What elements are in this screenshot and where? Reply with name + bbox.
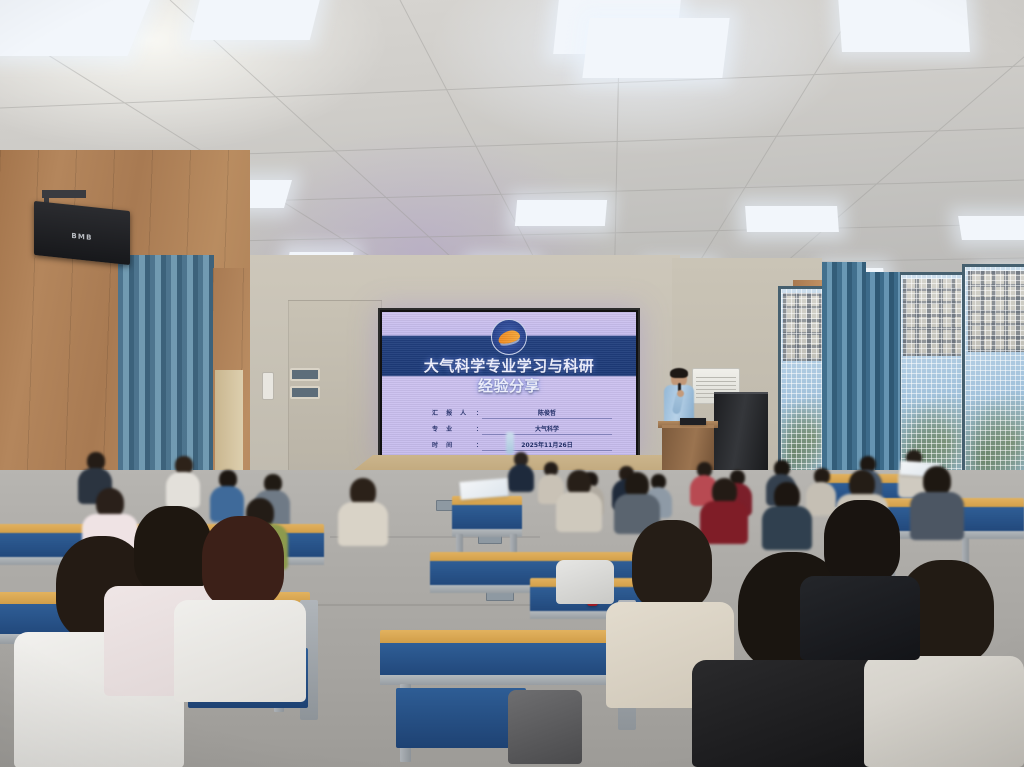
person-torso	[174, 600, 306, 702]
window-screen-mesh	[781, 289, 825, 479]
slide-meta-row: 专 业 ： 大气科学	[432, 424, 612, 435]
desk-row	[452, 496, 522, 540]
university-emblem-logo	[491, 319, 527, 355]
backpack	[556, 560, 614, 604]
desk-front-panel	[452, 505, 522, 531]
person-torso	[556, 492, 602, 532]
ceiling-light-panel	[190, 0, 322, 40]
window-screen-mesh	[965, 267, 1024, 491]
slide-title-line2: 经验分享	[382, 376, 636, 396]
audience-person-foreground	[800, 500, 920, 660]
person-torso	[800, 576, 920, 660]
slide-meta-block: 汇 报 人 ： 陈俊哲 专 业 ： 大气科学 时 间 ： 2025年11月26日	[432, 408, 612, 456]
ceiling-light-panel	[838, 0, 970, 52]
meta-label-date: 时 间	[432, 440, 476, 449]
speaker-brand-label: BMB	[71, 232, 92, 242]
person-head	[824, 500, 900, 584]
window-far	[778, 286, 828, 482]
lecture-hall-photo: BMB 大气科学专业学习与科研 经	[0, 0, 1024, 767]
slide-meta-row: 时 间 ： 2025年11月26日	[432, 440, 612, 451]
meta-label-presenter: 汇 报 人	[432, 408, 476, 417]
meta-value-date: 2025年11月26日	[482, 440, 612, 451]
slide-title-line1: 大气科学专业学习与科研	[382, 356, 636, 376]
seat-back	[396, 688, 526, 748]
person-torso	[692, 660, 882, 767]
person-torso	[166, 472, 200, 508]
ceiling-light-panel	[0, 0, 153, 56]
wall-speaker-left: BMB	[34, 201, 130, 265]
wall-vent-lower	[290, 386, 320, 399]
ceiling-light-panel	[745, 206, 839, 232]
slide-meta-row: 汇 报 人 ： 陈俊哲	[432, 408, 612, 419]
presenter-hand	[677, 390, 684, 397]
wall-vent-upper	[290, 368, 320, 381]
water-bottle	[506, 432, 514, 454]
wall-notice-left	[262, 372, 274, 400]
presenter-hair	[670, 368, 688, 378]
backpack	[508, 690, 582, 764]
meta-label-major: 专 业	[432, 424, 476, 433]
person-torso	[338, 502, 388, 546]
audience-person-foreground	[174, 516, 306, 702]
window-near	[962, 264, 1024, 494]
audience-person	[166, 456, 200, 508]
meta-value-presenter: 陈俊哲	[482, 408, 612, 419]
audience-person	[556, 470, 602, 532]
ceiling-light-panel	[515, 200, 607, 226]
meta-value-major: 大气科学	[482, 424, 612, 435]
person-head	[202, 516, 284, 608]
person-torso	[864, 656, 1024, 767]
ceiling-light-panel	[582, 18, 729, 78]
podium-laptop	[680, 418, 706, 425]
slide-title: 大气科学专业学习与科研 经验分享	[382, 356, 636, 397]
logo-wave-mark	[497, 329, 521, 345]
audience-person	[508, 452, 534, 492]
ceiling-light-panel	[958, 216, 1024, 240]
audience-person	[338, 478, 388, 546]
person-torso	[508, 464, 534, 492]
